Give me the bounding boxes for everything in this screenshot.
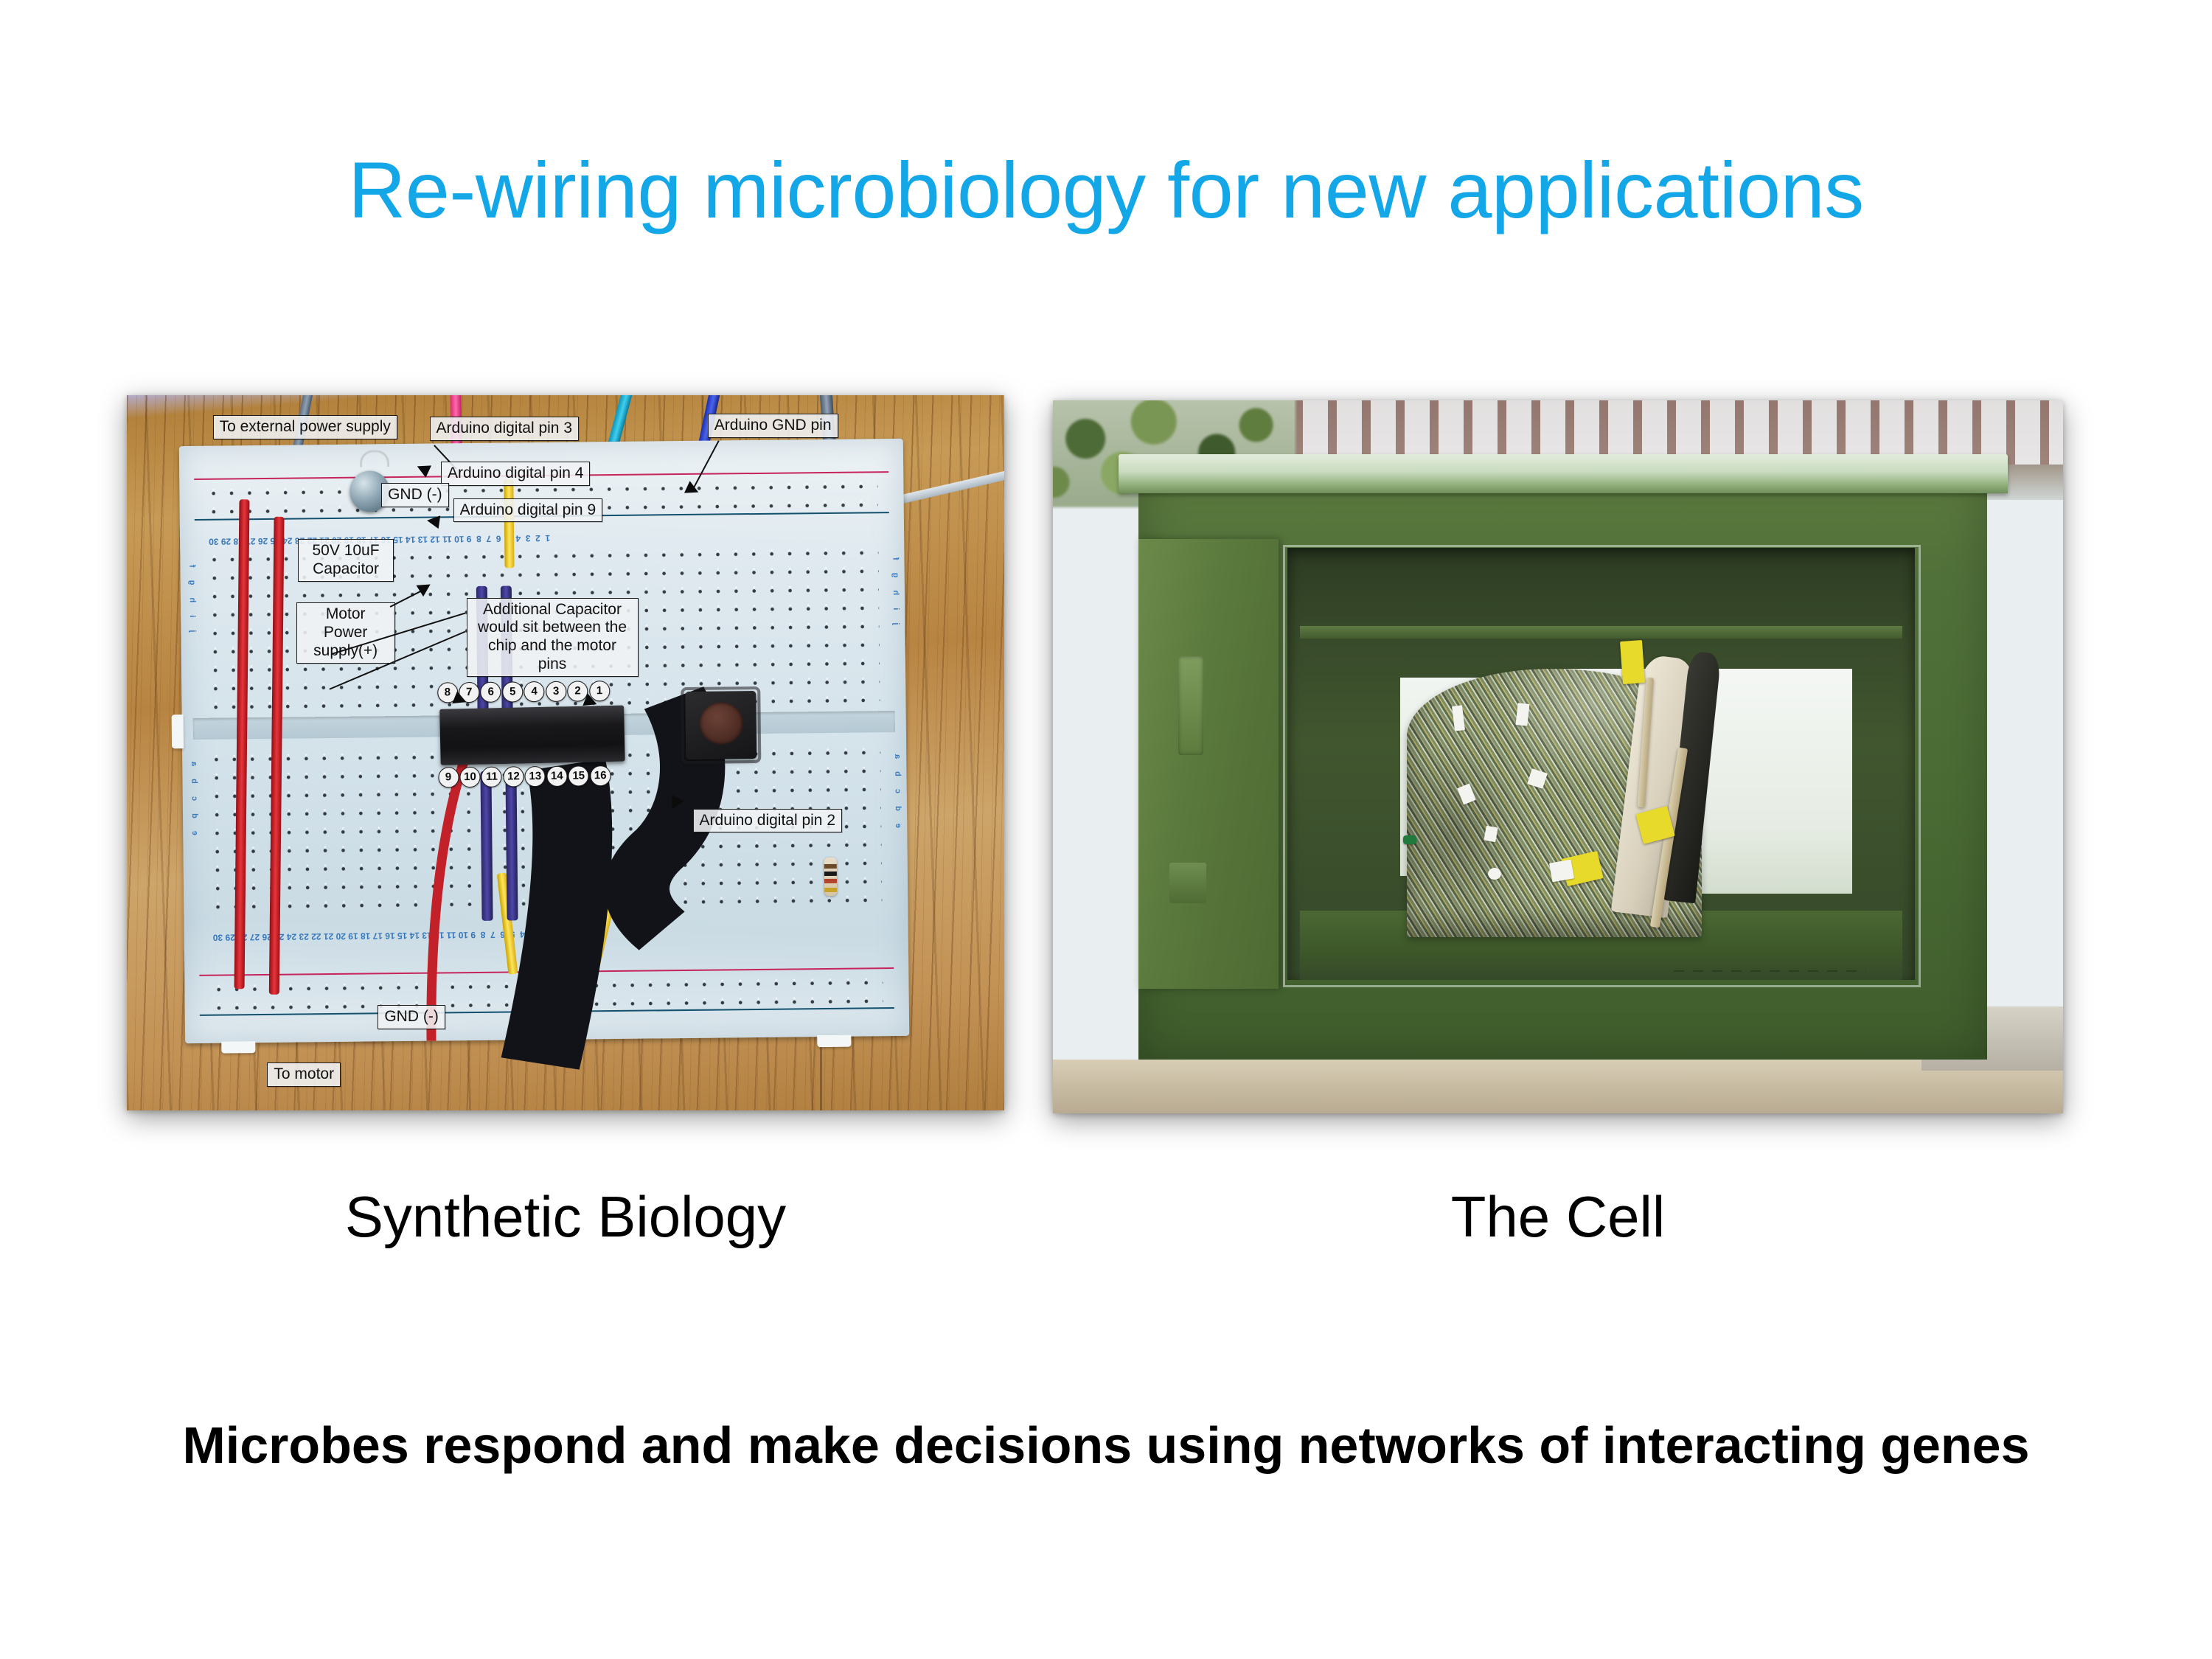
annotation-motor-power-supply: Motor Power supply(+) (296, 602, 395, 663)
chip-pin-16: 16 (590, 765, 611, 786)
annotation-capacitor-50v-10uf: 50V 10uF Capacitor (298, 539, 394, 582)
resistor (824, 858, 837, 896)
annotation-arduino-digital-pin-3: Arduino digital pin 3 (430, 417, 579, 441)
breadboard-tab-left (221, 1041, 255, 1053)
annotation-gnd-negative-upper: GND (-) (381, 483, 448, 507)
cabinet-roof (1119, 454, 2008, 493)
motor-driver-chip (439, 705, 625, 765)
cabinet-door-open (1138, 539, 1279, 989)
chip-pin-3: 3 (546, 681, 566, 702)
street-scene (1053, 400, 2063, 1113)
chip-pin-5: 5 (502, 681, 523, 702)
breadboard-tab-side (172, 715, 184, 749)
annotation-arduino-digital-pin-2: Arduino digital pin 2 (693, 809, 842, 833)
annotation-gnd-negative-lower: GND (-) (378, 1005, 445, 1029)
annotation-additional-capacitor: Additional Capacitor would sit between t… (467, 598, 639, 677)
cabinet-door-latch (1169, 863, 1206, 903)
figure-caption-the-cell: The Cell (1053, 1183, 2063, 1251)
annotation-arduino-gnd-pin: Arduino GND pin (708, 414, 838, 438)
switch-legs (681, 686, 762, 764)
annotation-to-motor: To motor (267, 1062, 341, 1087)
chip-pin-10: 10 (459, 767, 480, 787)
summary-statement: Microbes respond and make decisions usin… (0, 1416, 2212, 1475)
breadboard-tab-right (817, 1035, 851, 1047)
figure-image-breadboard: j i h g f e d c b a j i h g f e d c b a … (127, 395, 1004, 1110)
cabinet-body (1138, 468, 1987, 1060)
page-title: Re-wiring microbiology for new applicati… (0, 145, 2212, 236)
chip-pin-14: 14 (546, 766, 567, 787)
breadboard: j i h g f e d c b a j i h g f e d c b a … (179, 439, 909, 1043)
annotation-external-power-supply: To external power supply (213, 415, 397, 439)
cabinet-door-handle (1178, 656, 1203, 755)
chip-pin-9: 9 (438, 767, 459, 787)
cabinet-aperture-frame (1283, 545, 1920, 987)
annotation-arduino-digital-pin-4: Arduino digital pin 4 (441, 462, 590, 486)
figure-caption-synthetic-biology: Synthetic Biology (127, 1183, 1004, 1251)
annotation-arduino-digital-pin-9: Arduino digital pin 9 (453, 498, 602, 523)
chip-pin-12: 12 (503, 766, 524, 787)
tactile-pushbutton-switch (686, 691, 757, 759)
pavement (1053, 1060, 2063, 1113)
figure-image-cabinet (1053, 400, 2063, 1113)
arrowhead-pin-9 (426, 514, 440, 529)
